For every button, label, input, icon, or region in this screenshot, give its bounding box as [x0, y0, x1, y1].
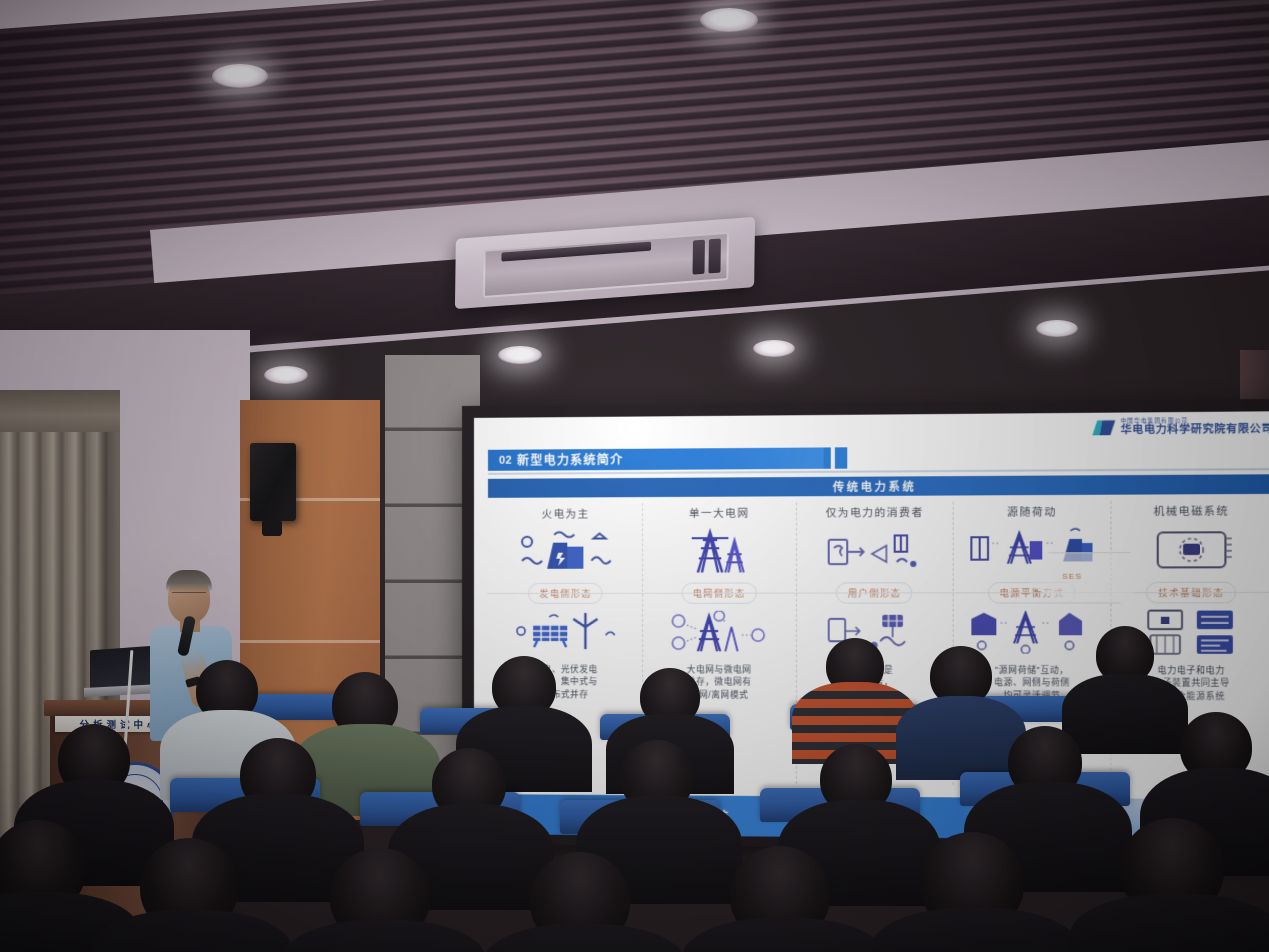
- ac-vent-slat: [708, 238, 720, 273]
- transmission-tower-icon: [646, 522, 793, 581]
- column-pill-row: 电网侧形态: [646, 580, 793, 604]
- company-logo: 中国华电集团有限公司 华电电力科学研究院有限公司: [1092, 417, 1269, 437]
- presenter-hair: [166, 570, 212, 592]
- title-accent-tick: [835, 447, 847, 468]
- audience-shoulders: [682, 918, 886, 952]
- ac-vent-slat: [693, 240, 705, 275]
- audience-shoulders: [1070, 894, 1269, 952]
- column-heading: 机械电磁系统: [1154, 503, 1230, 520]
- speaker-mount-bracket: [262, 520, 282, 536]
- curtain-header: [0, 390, 120, 432]
- logo-company-name: 华电电力科学研究院有限公司: [1121, 424, 1269, 437]
- ceiling-downlight: [753, 340, 795, 357]
- column-heading: 火电为主: [542, 506, 590, 522]
- central-callout-label: SES: [1062, 572, 1082, 581]
- title-accent-tick: [824, 447, 831, 468]
- ceiling-downlight: [498, 346, 542, 364]
- consumer-meter-icon: [800, 521, 949, 580]
- column-pill: 技术基础形态: [1147, 581, 1236, 603]
- column-pill-row: 发电侧形态: [493, 581, 639, 605]
- wall-speaker-icon: [250, 443, 296, 521]
- ceiling-downlight: [212, 64, 268, 88]
- ceiling-downlight: [1036, 320, 1078, 337]
- slide-title: 新型电力系统简介: [517, 451, 623, 469]
- audience-shoulders: [870, 908, 1080, 952]
- slide-subtitle: 传统电力系统: [833, 478, 917, 495]
- audience-area: [0, 652, 1269, 952]
- logo-text-block: 中国华电集团有限公司 华电电力科学研究院有限公司: [1121, 417, 1269, 437]
- audience-shoulders: [282, 920, 486, 952]
- thermal-power-plant-icon: [493, 522, 639, 581]
- column-pill: 发电侧形态: [528, 582, 603, 603]
- audience-shoulders: [1062, 674, 1188, 754]
- presenter-glasses-icon: [172, 592, 206, 600]
- ceiling-downlight: [700, 8, 758, 32]
- slide-subtitle-bar: 传统电力系统: [488, 474, 1269, 498]
- column-pill: 电网侧形态: [681, 582, 756, 603]
- column-pill-row: 用户侧形态: [800, 580, 949, 605]
- column-heading: 源随荷动: [1007, 504, 1057, 521]
- slide-section-number: 02: [499, 454, 512, 466]
- audience-shoulders: [896, 696, 1026, 780]
- ceiling-downlight: [264, 366, 308, 384]
- conference-hall-photo: 中国华电集团有限公司 华电电力科学研究院有限公司 02 新型电力系统简介 传统电…: [0, 0, 1269, 952]
- wood-wall-trim: [240, 640, 385, 643]
- logo-mark-icon: [1092, 420, 1115, 436]
- slide-title-bar: 02 新型电力系统简介: [488, 447, 824, 470]
- column-heading: 单一大电网: [689, 506, 750, 522]
- column-pill: 用户侧形态: [836, 582, 912, 603]
- audience-shoulders: [482, 924, 686, 952]
- column-heading: 仅为电力的消费者: [826, 505, 924, 522]
